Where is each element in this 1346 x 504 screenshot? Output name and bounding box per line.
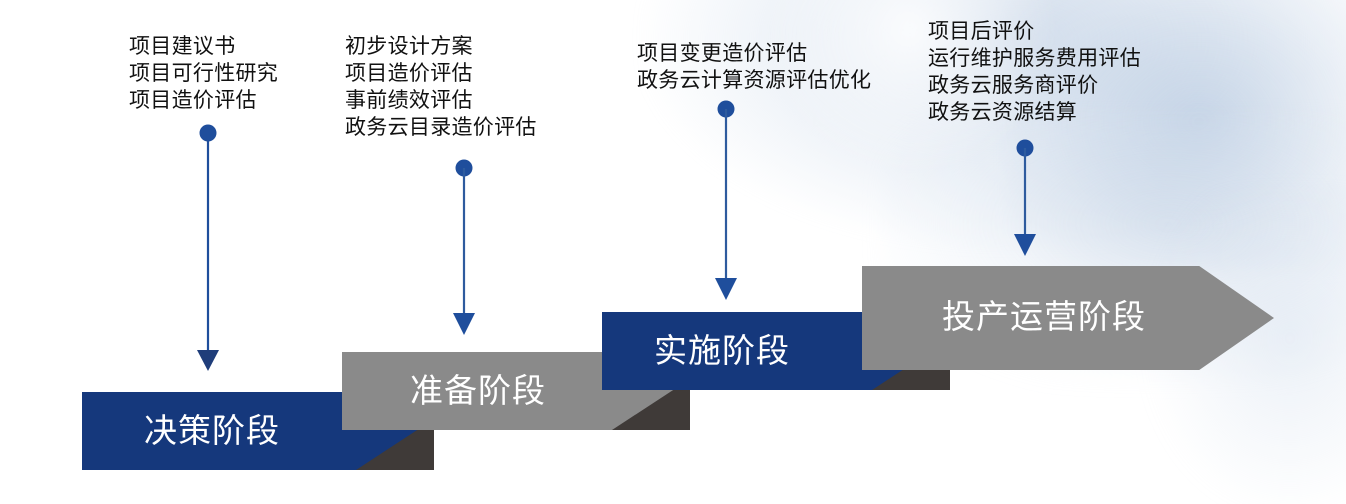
stage-label-implementation: 实施阶段: [654, 334, 790, 367]
note-line: 项目建议书: [129, 33, 278, 60]
note-line: 项目造价评估: [129, 87, 278, 114]
stage-label-preparation: 准备阶段: [410, 374, 546, 407]
stage-notes-preparation: 初步设计方案 项目造价评估 事前绩效评估 政务云目录造价评估: [345, 33, 537, 141]
stage-label-operation: 投产运营阶段: [942, 300, 1146, 333]
connector-arrow-operation: [1014, 140, 1036, 257]
stage-notes-operation: 项目后评价 运行维护服务费用评估 政务云服务商评价 政务云资源结算: [928, 18, 1141, 126]
diagram-canvas: 项目建议书 项目可行性研究 项目造价评估 初步设计方案 项目造价评估 事前绩效评…: [0, 0, 1346, 504]
note-line: 项目变更造价评估: [637, 40, 871, 67]
note-line: 政务云计算资源评估优化: [637, 67, 871, 94]
connector-arrow-preparation: [453, 160, 475, 336]
note-line: 项目可行性研究: [129, 60, 278, 87]
note-line: 运行维护服务费用评估: [928, 45, 1141, 72]
connector-arrow-implementation: [715, 101, 737, 301]
note-line: 初步设计方案: [345, 33, 537, 60]
stage-label-decision: 决策阶段: [144, 414, 280, 447]
note-line: 政务云资源结算: [928, 99, 1141, 126]
note-line: 事前绩效评估: [345, 87, 537, 114]
connector-arrow-decision: [197, 125, 219, 372]
stage-notes-decision: 项目建议书 项目可行性研究 项目造价评估: [129, 33, 278, 114]
note-line: 项目后评价: [928, 18, 1141, 45]
stage-notes-implementation: 项目变更造价评估 政务云计算资源评估优化: [637, 40, 871, 94]
stage-block-operation[interactable]: 投产运营阶段: [862, 266, 1274, 370]
note-line: 政务云服务商评价: [928, 72, 1141, 99]
note-line: 项目造价评估: [345, 60, 537, 87]
note-line: 政务云目录造价评估: [345, 114, 537, 141]
